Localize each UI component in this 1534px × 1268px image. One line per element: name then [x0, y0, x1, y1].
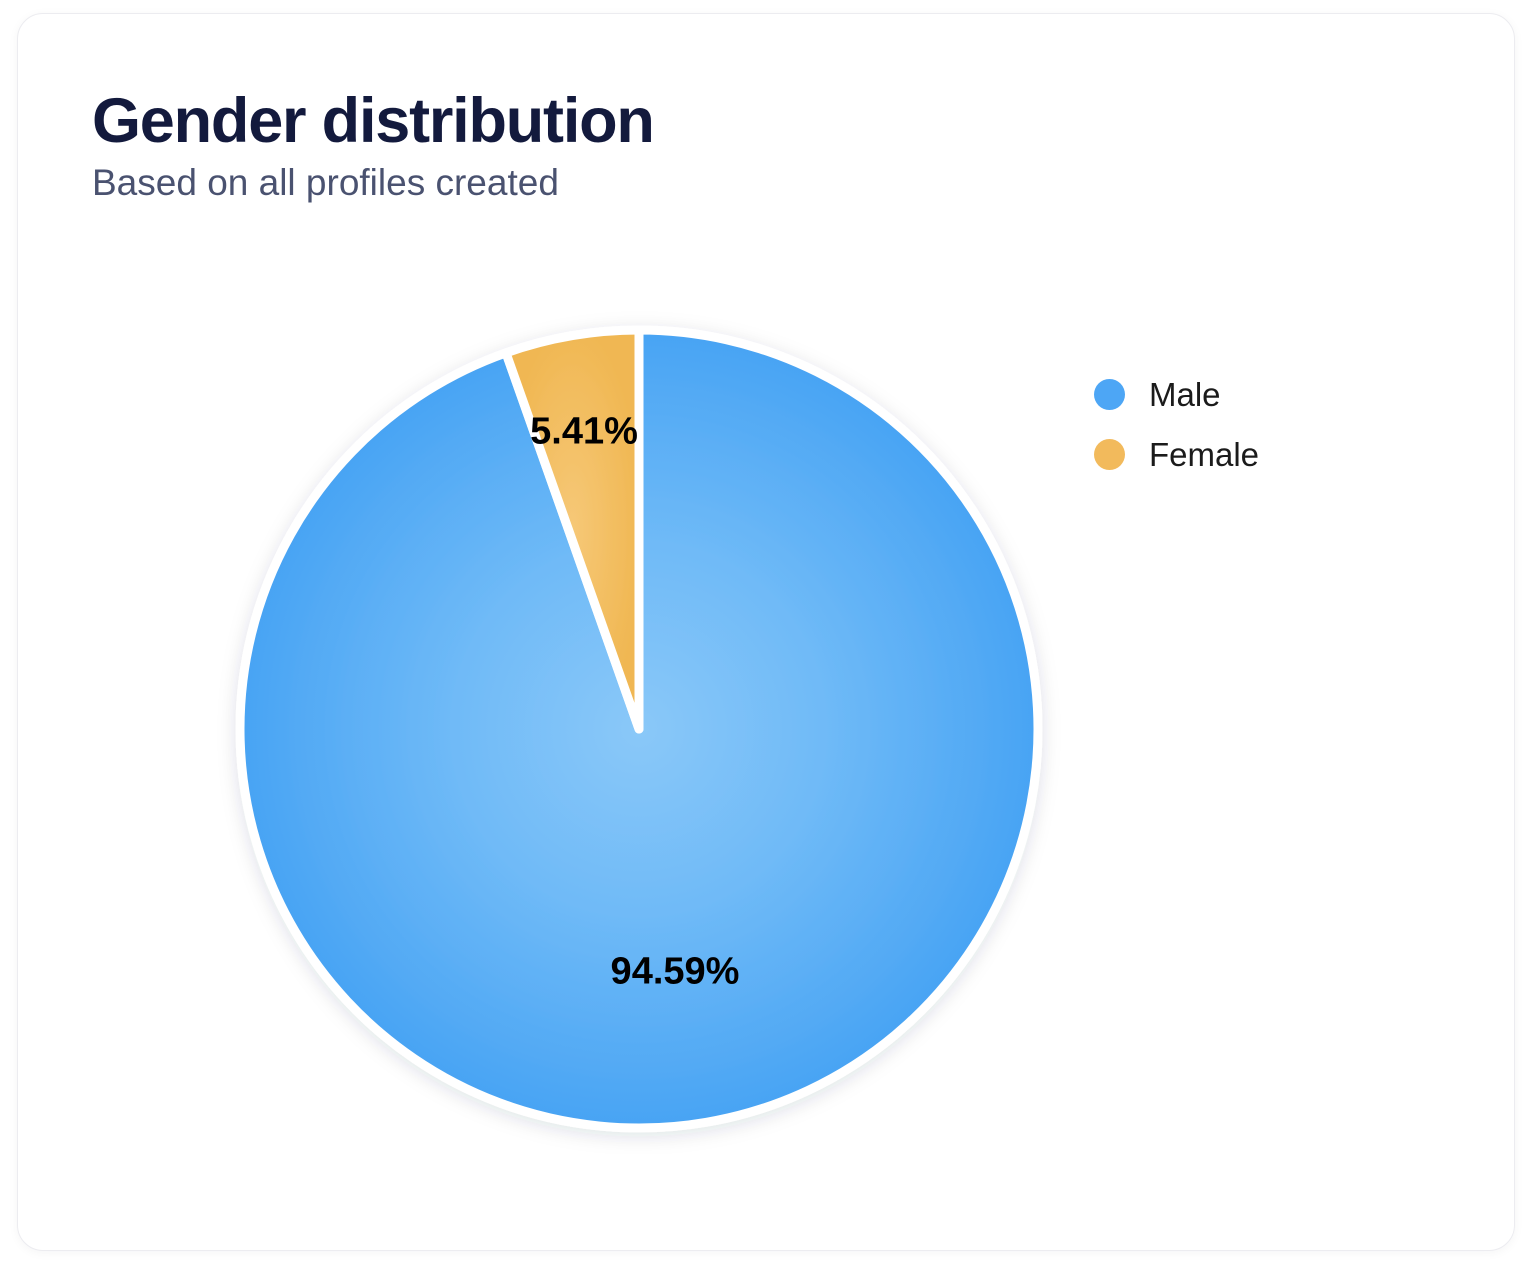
legend-label-male: Male — [1149, 378, 1221, 411]
pie-chart-svg — [214, 304, 1064, 1154]
legend-item-female[interactable]: Female — [1094, 424, 1259, 484]
legend-label-female: Female — [1149, 438, 1259, 471]
pie-label-male: 94.59% — [611, 951, 740, 994]
pie-chart-plot-area: 5.41% 94.59% Male Female — [18, 14, 1515, 1251]
pie-label-female: 5.41% — [530, 411, 638, 454]
pie-slices-group — [240, 330, 1038, 1128]
legend-color-dot-icon — [1094, 379, 1125, 410]
chart-card: Gender distribution Based on all profile… — [17, 13, 1515, 1251]
chart-legend: Male Female — [1094, 364, 1259, 484]
legend-item-male[interactable]: Male — [1094, 364, 1259, 424]
legend-color-dot-icon — [1094, 439, 1125, 470]
